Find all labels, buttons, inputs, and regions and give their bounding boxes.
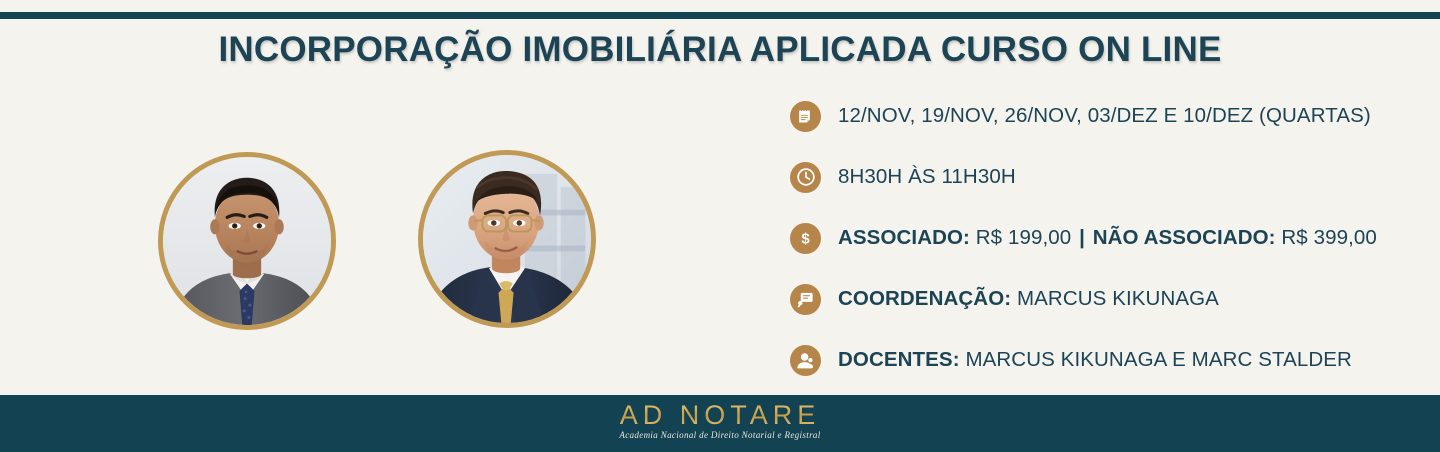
portrait-photo-right (423, 155, 591, 323)
info-dates-text: 12/NOV, 19/NOV, 26/NOV, 03/DEZ E 10/DEZ … (838, 104, 1371, 128)
portrait-photo-left (163, 157, 331, 325)
price-separator: | (1077, 226, 1087, 249)
course-info-list: 12/NOV, 19/NOV, 26/NOV, 03/DEZ E 10/DEZ … (790, 92, 1410, 397)
price-value-associado: R$ 199,00 (976, 226, 1072, 249)
course-banner: INCORPORAÇÃO IMOBILIÁRIA APLICADA CURSO … (0, 0, 1440, 452)
price-label-nao-associado: NÃO ASSOCIADO: (1093, 226, 1276, 249)
info-row-teachers: DOCENTES: MARCUS KIKUNAGA E MARC STALDER (790, 336, 1410, 384)
info-coordination-text: COORDENAÇÃO: MARCUS KIKUNAGA (838, 287, 1219, 311)
info-row-price: $ ASSOCIADO: R$ 199,00 | NÃO ASSOCIADO: … (790, 214, 1410, 262)
logo-wordmark: AD NOTARE (620, 401, 821, 429)
user-icon (790, 345, 821, 376)
coordination-label: COORDENAÇÃO: (838, 287, 1011, 310)
price-value-nao-associado: R$ 399,00 (1281, 226, 1377, 249)
info-row-dates: 12/NOV, 19/NOV, 26/NOV, 03/DEZ E 10/DEZ … (790, 92, 1410, 140)
dollar-icon: $ (790, 223, 821, 254)
teachers-value: MARCUS KIKUNAGA E MARC STALDER (965, 348, 1352, 371)
page-title: INCORPORAÇÃO IMOBILIÁRIA APLICADA CURSO … (0, 30, 1440, 70)
logo-tagline: Academia Nacional de Direito Notarial e … (0, 430, 1440, 440)
calendar-icon (790, 101, 821, 132)
info-row-coordination: COORDENAÇÃO: MARCUS KIKUNAGA (790, 275, 1410, 323)
portrait-group (150, 146, 620, 341)
clock-icon (790, 162, 821, 193)
footer-bar: AD NOTARE Academia Nacional de Direito N… (0, 395, 1440, 452)
brand-logo: AD NOTARE Academia Nacional de Direito N… (0, 401, 1440, 440)
price-label-associado: ASSOCIADO: (838, 226, 970, 249)
portrait-marc-stalder (418, 150, 596, 328)
coordination-value: MARCUS KIKUNAGA (1017, 287, 1219, 310)
top-accent-rule (0, 12, 1440, 19)
info-teachers-text: DOCENTES: MARCUS KIKUNAGA E MARC STALDER (838, 348, 1352, 372)
svg-text:$: $ (801, 230, 810, 247)
presentation-icon (790, 284, 821, 315)
portrait-marcus-kikunaga (158, 152, 336, 330)
teachers-label: DOCENTES: (838, 348, 960, 371)
info-price-text: ASSOCIADO: R$ 199,00 | NÃO ASSOCIADO: R$… (838, 226, 1377, 250)
info-row-time: 8H30H ÀS 11H30H (790, 153, 1410, 201)
info-time-text: 8H30H ÀS 11H30H (838, 165, 1016, 189)
